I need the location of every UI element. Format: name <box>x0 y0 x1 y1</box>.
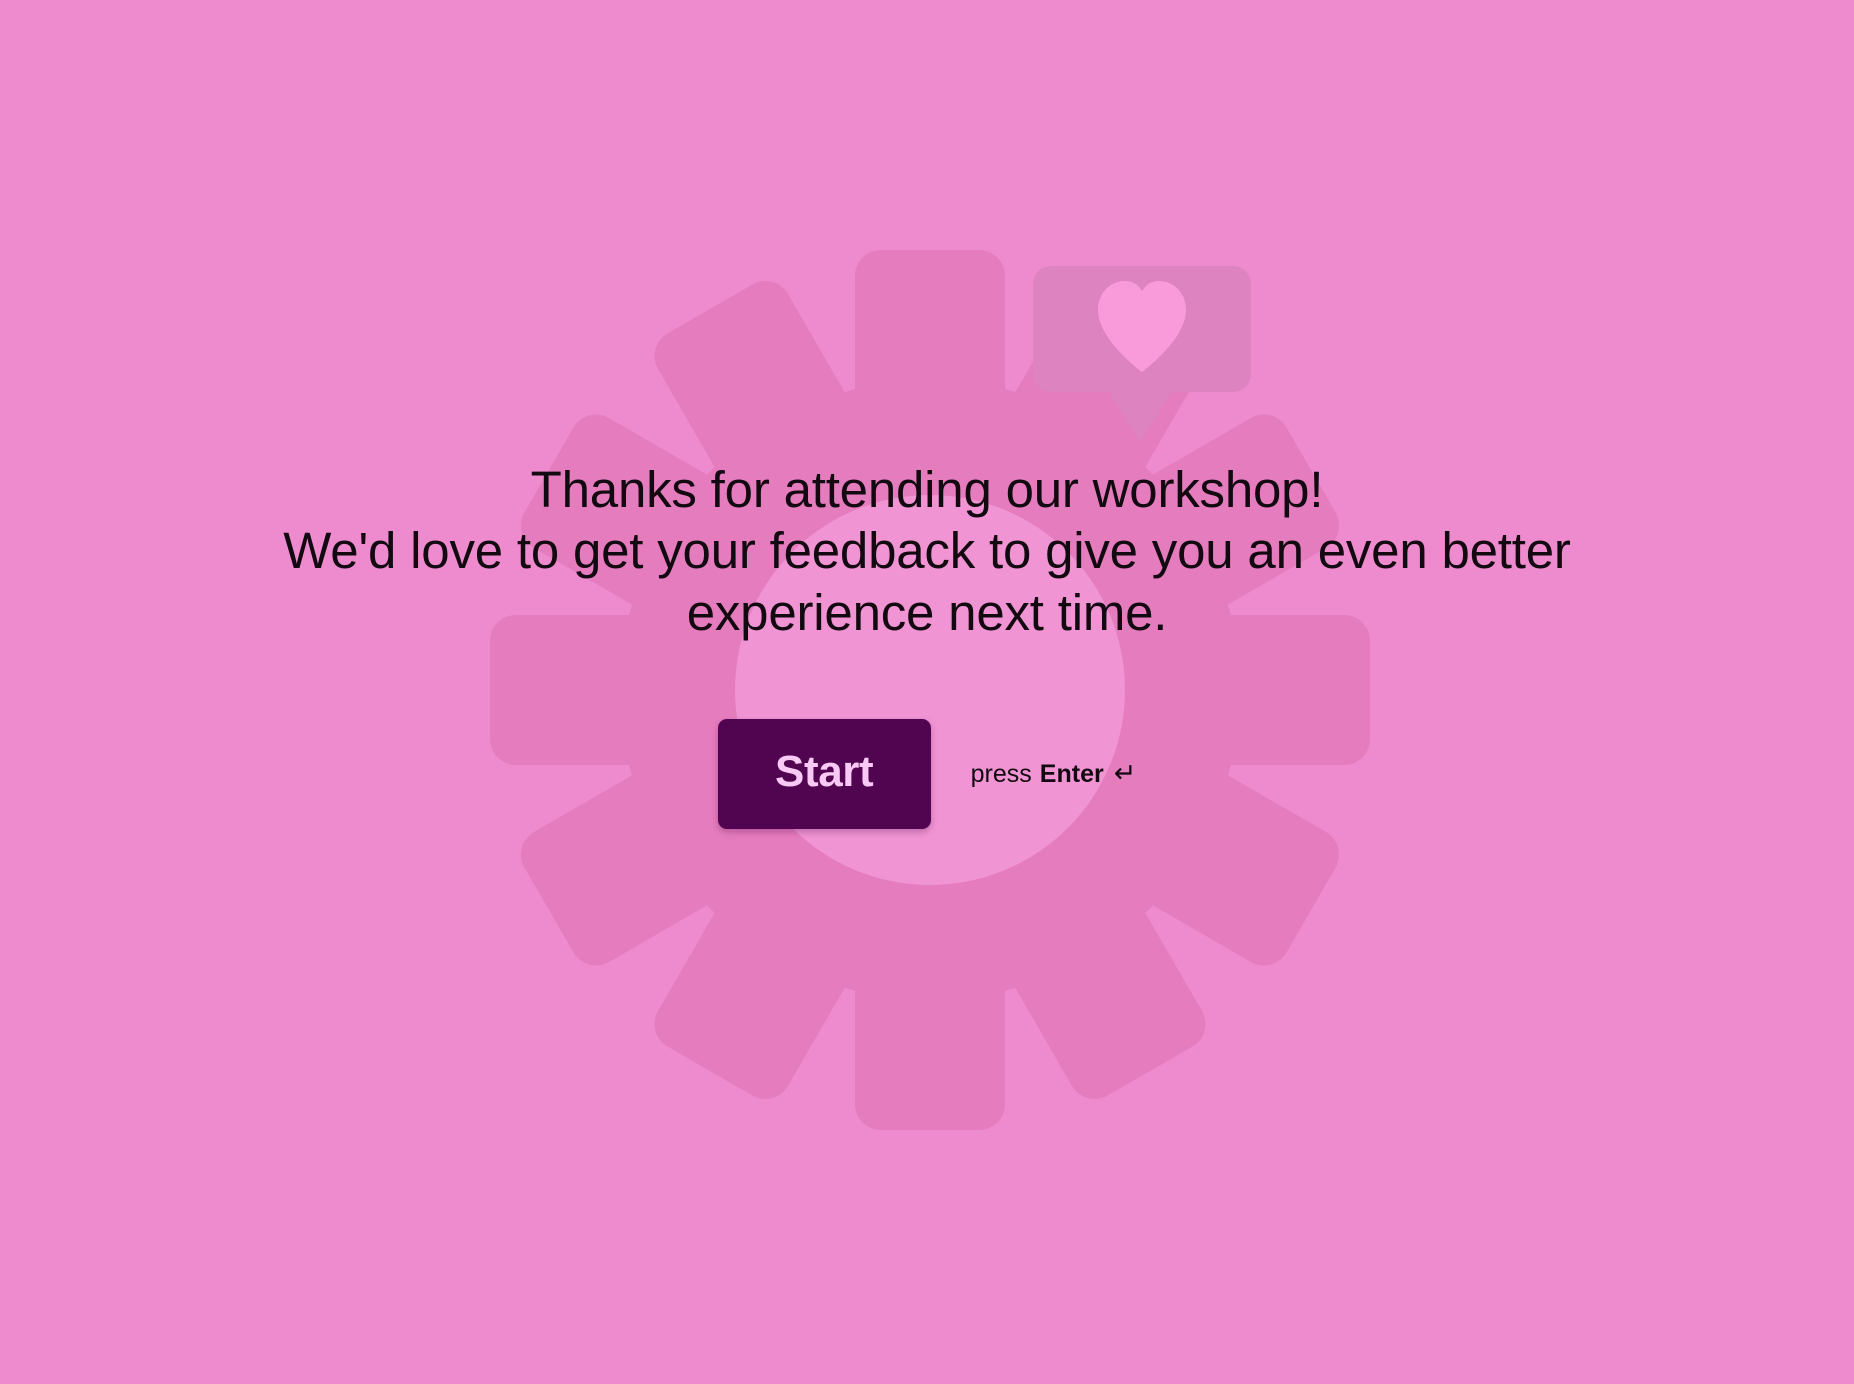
intro-line-3: experience next time. <box>283 582 1570 643</box>
hint-enter-key: Enter <box>1040 762 1104 787</box>
intro-block: Thanks for attending our workshop! We'd … <box>227 459 1627 829</box>
page-title: Thanks for attending our workshop! We'd … <box>283 459 1570 643</box>
start-button[interactable]: Start <box>718 719 931 829</box>
press-enter-hint: press Enter ↵ <box>971 760 1137 787</box>
return-arrow-icon: ↵ <box>1114 760 1137 787</box>
welcome-screen: Thanks for attending our workshop! We'd … <box>0 0 1854 1384</box>
action-row: Start press Enter ↵ <box>718 719 1137 829</box>
intro-line-2: We'd love to get your feedback to give y… <box>283 520 1570 581</box>
hint-press-label: press <box>971 762 1032 787</box>
intro-line-1: Thanks for attending our workshop! <box>283 459 1570 520</box>
